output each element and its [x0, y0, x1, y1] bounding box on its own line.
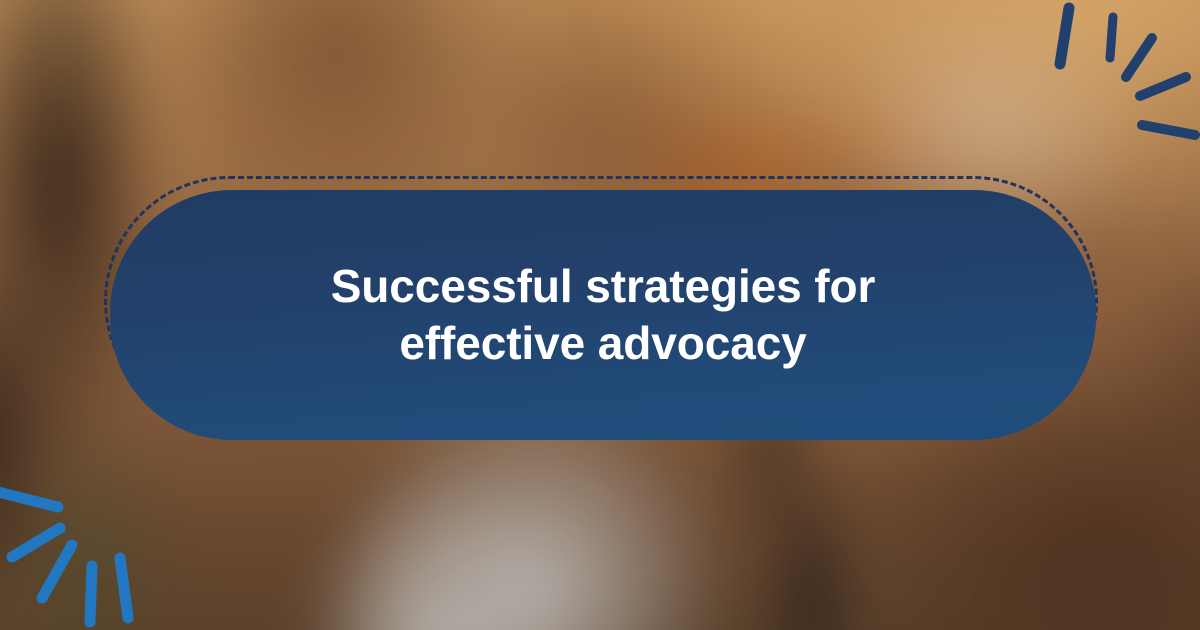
page-title: Successful strategies for effective advo…: [331, 258, 876, 371]
sparkle-burst-icon-top-right: [1040, 0, 1200, 155]
title-card: Successful strategies for effective advo…: [110, 190, 1096, 440]
sparkle-burst-icon-bottom-left: [0, 470, 161, 630]
social-share-banner: Successful strategies for effective advo…: [0, 0, 1200, 630]
